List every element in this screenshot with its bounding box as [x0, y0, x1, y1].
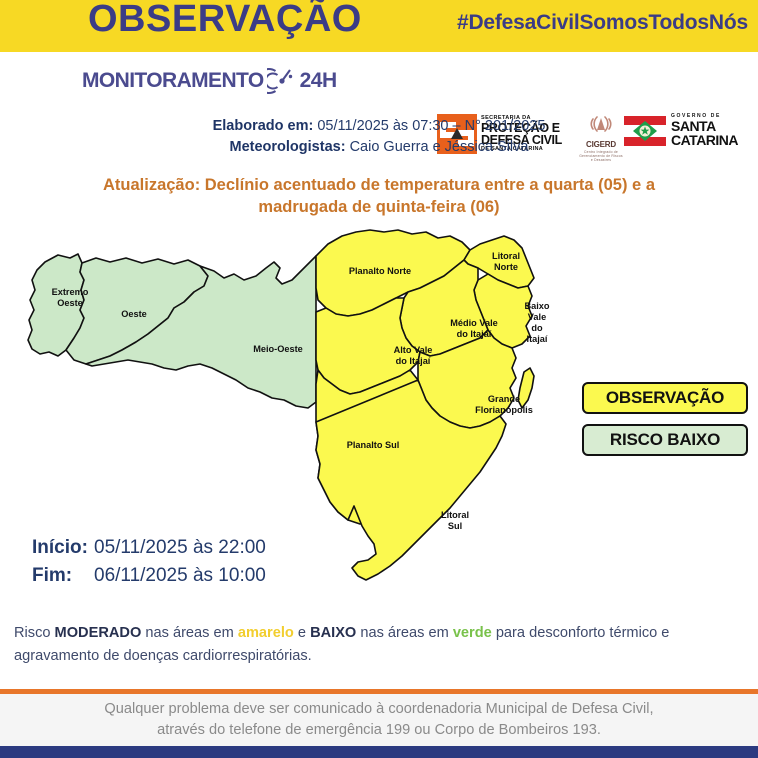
update-line-1: Atualização: Declínio acentuado de tempe… [40, 175, 718, 197]
campaign-hashtag: #DefesaCivilSomosTodosNós [457, 11, 748, 35]
label-baixo-vale-2: Vale [528, 312, 546, 322]
label-litoral-norte: Litoral [492, 251, 520, 261]
risk-p2: nas áreas em [141, 625, 238, 641]
update-line-2: madrugada de quinta-feira (06) [40, 197, 718, 219]
footer-line-1: Qualquer problema deve ser comunicado à … [104, 699, 653, 720]
risk-verde: verde [453, 625, 492, 641]
risk-line-2: agravamento de doenças cardiorrespiratór… [14, 645, 750, 668]
label-baixo-vale: Baixo [524, 301, 549, 311]
monitoring-label: MONITORAMENTO [82, 69, 264, 93]
label-alto-vale-2: do Itajaí [396, 356, 431, 366]
label-extremo-oeste-2: Oeste [57, 298, 83, 308]
footer-note: Qualquer problema deve ser comunicado à … [0, 694, 758, 746]
elaborado-value: 05/11/2025 às 07:30 – N° 201/2025 [317, 118, 545, 134]
risk-p3: e [294, 625, 310, 641]
logo-row: MONITORAMENTO 24H [0, 52, 758, 112]
label-meio-oeste: Meio-Oeste [253, 344, 303, 354]
elaborado-label: Elaborado em: [213, 118, 314, 134]
label-baixo-vale-3: do [531, 323, 543, 333]
inicio-value: 05/11/2025 às 22:00 [94, 534, 266, 562]
meteorologistas-line: Meteorologistas: Caio Guerra e Jéssica S… [0, 137, 758, 158]
alert-bulletin-page: OBSERVAÇÃO #DefesaCivilSomosTodosNós MON… [0, 0, 758, 758]
event-window: Início: 05/11/2025 às 22:00 Fim: 06/11/2… [32, 534, 266, 589]
risk-baixo: BAIXO [310, 625, 356, 641]
footer-line-2: através do telefone de emergência 199 ou… [157, 720, 601, 741]
risk-amarelo: amarelo [238, 625, 294, 641]
fim-row: Fim: 06/11/2025 às 10:00 [32, 562, 266, 590]
label-grande-florianopolis: Grande [488, 394, 520, 404]
label-planalto-norte: Planalto Norte [349, 266, 411, 276]
label-medio-vale-2: do Itajaí [457, 329, 492, 339]
top-banner: OBSERVAÇÃO #DefesaCivilSomosTodosNós [0, 0, 758, 52]
fim-label: Fim: [32, 562, 94, 590]
inicio-label: Início: [32, 534, 94, 562]
risk-moderado: MODERADO [55, 625, 142, 641]
risk-p1: Risco [14, 625, 55, 641]
label-litoral-sul: Litoral [441, 510, 469, 520]
monitoring-24h-logo: MONITORAMENTO 24H [82, 66, 337, 96]
inicio-row: Início: 05/11/2025 às 22:00 [32, 534, 266, 562]
label-litoral-norte-2: Norte [494, 262, 518, 272]
legend-risco-baixo[interactable]: RISCO BAIXO [582, 424, 748, 456]
label-medio-vale: Médio Vale [450, 318, 498, 328]
label-planalto-sul: Planalto Sul [347, 440, 400, 450]
risk-p5: para desconforto térmico e [492, 625, 670, 641]
page-title: OBSERVAÇÃO [88, 0, 362, 41]
label-baixo-vale-4: Itajaí [527, 334, 548, 344]
fim-value: 06/11/2025 às 10:00 [94, 562, 266, 590]
risk-p4: nas áreas em [356, 625, 453, 641]
monitoring-24h-label: 24H [300, 69, 337, 93]
label-grande-florianopolis-2: Florianópolis [475, 405, 533, 415]
update-notice: Atualização: Declínio acentuado de tempe… [40, 175, 718, 219]
blue-bottom-bar [0, 746, 758, 758]
island-florianopolis [518, 368, 534, 408]
bulletin-meta: Elaborado em: 05/11/2025 às 07:30 – N° 2… [0, 116, 758, 158]
label-oeste: Oeste [121, 309, 147, 319]
meteorologistas-value: Caio Guerra e Jéssica Silva [350, 139, 529, 155]
radar-24h-icon [267, 66, 297, 96]
label-extremo-oeste: Extremo [52, 287, 89, 297]
risk-description: Risco MODERADO nas áreas em amarelo e BA… [14, 622, 750, 667]
label-litoral-sul-2: Sul [448, 521, 462, 531]
map-legend: OBSERVAÇÃO RISCO BAIXO [582, 382, 748, 466]
elaborado-line: Elaborado em: 05/11/2025 às 07:30 – N° 2… [0, 116, 758, 137]
label-alto-vale: Alto Vale [394, 345, 433, 355]
legend-observacao[interactable]: OBSERVAÇÃO [582, 382, 748, 414]
meteorologistas-label: Meteorologistas: [230, 139, 346, 155]
